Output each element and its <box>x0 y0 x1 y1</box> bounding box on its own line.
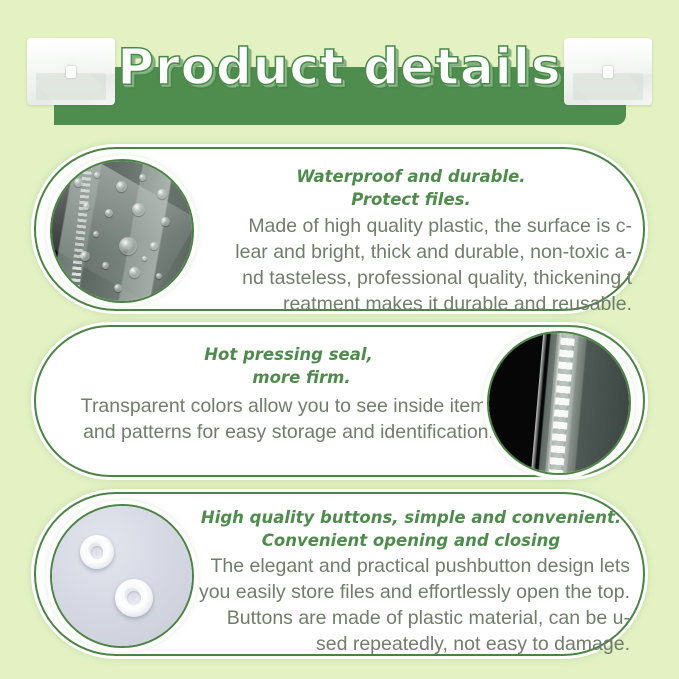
water-drop <box>157 189 167 199</box>
header-banner: Product details <box>0 0 679 140</box>
panel-body-line: nd tasteless, professional quality, thic… <box>186 265 632 291</box>
panel-heading-line: Hot pressing seal, <box>46 343 531 366</box>
water-drop <box>80 251 90 261</box>
feature-text-waterproof: Waterproof and durable. Protect files. M… <box>186 165 636 317</box>
water-droplets-photo <box>52 161 192 301</box>
water-drop <box>132 203 145 216</box>
seal-weld-strip <box>544 331 580 475</box>
water-drop <box>83 203 90 210</box>
water-drop <box>119 237 137 255</box>
feature-image-seal <box>487 331 631 475</box>
panel-heading-line: more firm. <box>46 366 531 389</box>
panel-body-line: you easily store files and effortlessly … <box>186 579 630 605</box>
feature-text-buttons: High quality buttons, simple and conveni… <box>186 506 636 657</box>
feature-image-buttons <box>50 504 194 648</box>
panel-body-line: Buttons are made of plastic material, ca… <box>186 605 630 631</box>
panel-body-line: and patterns for easy storage and identi… <box>46 419 531 445</box>
water-drop <box>93 231 99 237</box>
panel-body: Made of high quality plastic, the surfac… <box>186 213 636 317</box>
snap-button <box>115 579 153 617</box>
water-drop <box>156 273 162 279</box>
seal-edge-line <box>530 331 548 475</box>
feature-text-seal: Hot pressing seal, more firm. Transparen… <box>46 343 531 445</box>
panel-body-line: Made of high quality plastic, the surfac… <box>186 213 632 239</box>
panel-heading-line: Waterproof and durable. <box>186 165 636 188</box>
feature-panel-seal: Hot pressing seal, more firm. Transparen… <box>34 325 645 477</box>
panel-body-line: lear and bright, thick and durable, non-… <box>186 239 632 265</box>
panel-heading-line: Protect files. <box>186 188 636 211</box>
page-title-container: Product details <box>0 36 679 98</box>
page-title: Product details <box>117 36 561 98</box>
water-drop <box>139 174 146 181</box>
water-drop <box>114 284 122 292</box>
hot-pressed-seal-photo <box>489 333 629 473</box>
feature-panel-waterproof: Waterproof and durable. Protect files. M… <box>34 147 645 311</box>
water-drop <box>105 209 113 217</box>
snap-buttons-photo <box>52 506 192 646</box>
panel-heading-line: Convenient opening and closing <box>186 529 636 552</box>
feature-panel-buttons: High quality buttons, simple and conveni… <box>34 492 645 656</box>
snap-button <box>80 535 114 569</box>
panel-body-line: reatment makes it durable and reusable. <box>186 291 632 317</box>
panel-body: Transparent colors allow you to see insi… <box>46 393 531 445</box>
panel-heading-line: High quality buttons, simple and conveni… <box>186 506 636 529</box>
panel-body-line: sed repeatedly, not easy to damage. <box>186 631 630 657</box>
panel-body: The elegant and practical pushbutton des… <box>186 553 636 657</box>
panel-body-line: Transparent colors allow you to see insi… <box>46 393 531 419</box>
water-drop <box>142 256 147 261</box>
feature-image-waterproof <box>50 159 194 303</box>
water-drop <box>116 181 127 192</box>
panel-body-line: The elegant and practical pushbutton des… <box>186 553 630 579</box>
